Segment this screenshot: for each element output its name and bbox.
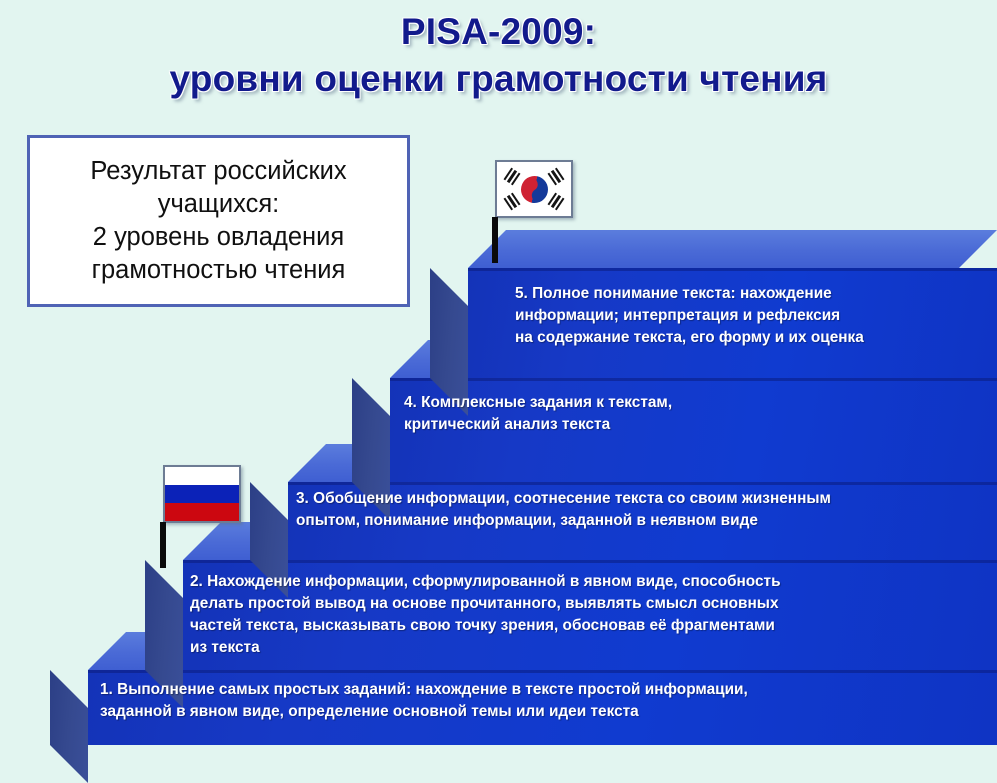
step-2-label: 2. Нахождение информации, сформулированн… (190, 571, 990, 659)
korea-flag-pole (492, 217, 498, 263)
russia-flag-pole (160, 522, 166, 568)
trigram-top-left-icon (504, 168, 521, 186)
trigram-bottom-left-icon (504, 193, 521, 211)
step-3-tread-edge (288, 482, 997, 485)
step-5-top-face (468, 230, 997, 268)
step-1-tread-edge (88, 670, 997, 673)
step-5-tread-edge (468, 268, 997, 271)
south-korea-flag-icon (495, 160, 573, 218)
staircase-diagram: 5. Полное понимание текста: нахождение и… (0, 0, 997, 745)
taegeuk-icon (515, 170, 552, 207)
russia-flag-red-band (165, 503, 239, 521)
step-1-side-face (50, 670, 88, 783)
trigram-bottom-right-icon (548, 193, 565, 211)
step-4-tread-edge (390, 378, 997, 381)
step-2-tread-edge (183, 560, 997, 563)
step-5-label: 5. Полное понимание текста: нахождение и… (515, 283, 995, 349)
russia-flag-blue-band (165, 485, 239, 503)
russia-flag-icon (163, 465, 241, 523)
step-3-label: 3. Обобщение информации, соотнесение тек… (296, 488, 991, 532)
step-4-label: 4. Комплексные задания к текстам, критич… (404, 392, 964, 436)
trigram-top-right-icon (548, 168, 565, 186)
step-1-label: 1. Выполнение самых простых заданий: нах… (100, 679, 990, 723)
russia-flag-white-band (165, 467, 239, 485)
